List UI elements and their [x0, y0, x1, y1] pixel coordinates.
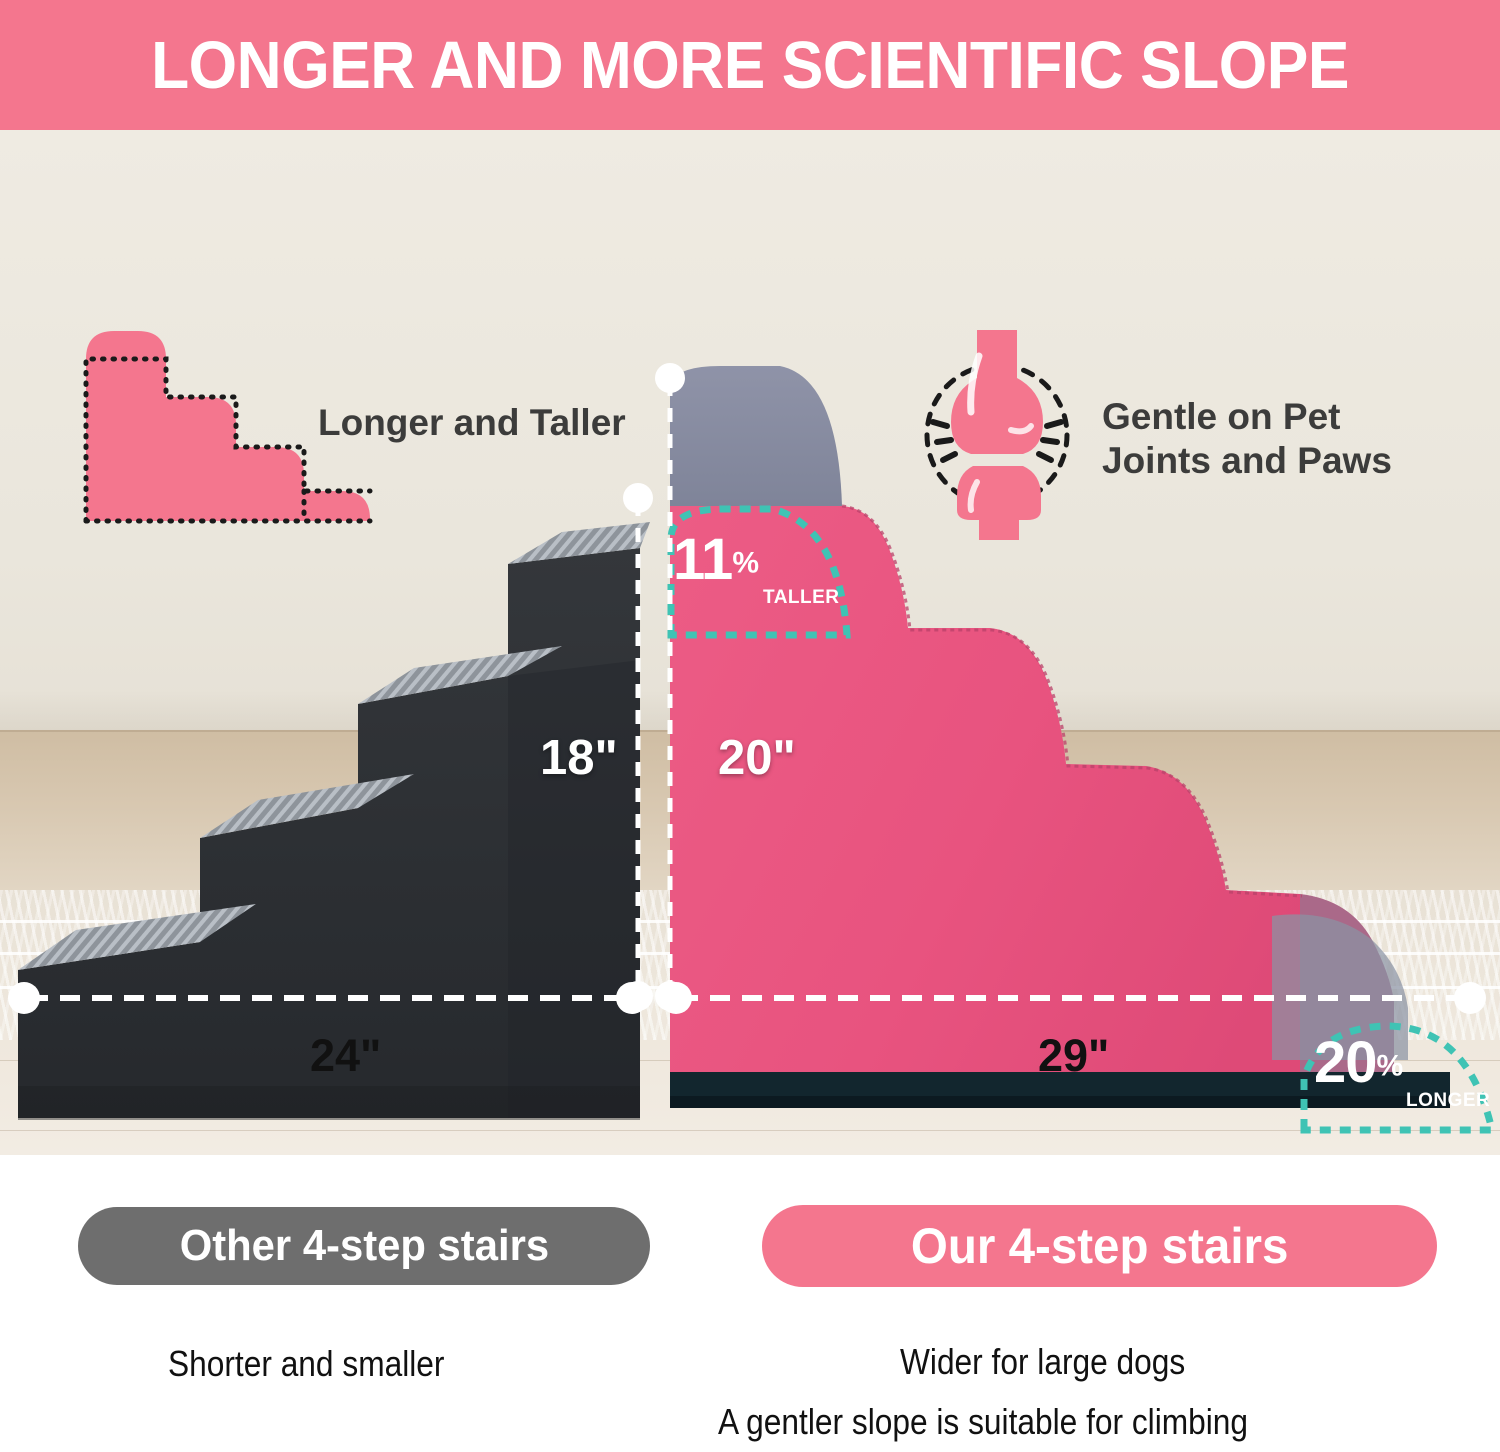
- header-banner: LONGER AND MORE SCIENTIFIC SLOPE: [0, 0, 1500, 130]
- pill-our-stairs: Our 4-step stairs: [762, 1205, 1437, 1287]
- feature-label-longer-taller: Longer and Taller: [318, 402, 626, 444]
- description-our-2: A gentler slope is suitable for climbing: [718, 1401, 1248, 1443]
- comparison-footer: Other 4-step stairs Our 4-step stairs Sh…: [0, 1155, 1500, 1452]
- banner-title: LONGER AND MORE SCIENTIFIC SLOPE: [151, 27, 1349, 104]
- badge-20-percent-longer: 20% LONGER: [1300, 1020, 1495, 1125]
- competitor-stairs-product: [10, 490, 650, 1125]
- pill-our-label: Our 4-step stairs: [911, 1217, 1289, 1275]
- product-comparison-scene: Longer and Taller Gentle on Pet Joints a…: [0, 130, 1500, 1155]
- our-stairs-product: [660, 360, 1490, 1125]
- pill-other-label: Other 4-step stairs: [179, 1221, 548, 1271]
- description-other-1: Shorter and smaller: [168, 1343, 444, 1385]
- badge-longer-sub: LONGER: [1406, 1090, 1490, 1112]
- badge-longer-value: 20%: [1314, 1034, 1403, 1092]
- badge-taller-sub: TALLER: [763, 587, 840, 609]
- pill-other-stairs: Other 4-step stairs: [78, 1207, 650, 1285]
- floor-plank-seam: [0, 1130, 1500, 1131]
- badge-11-percent-taller: 11% TALLER: [667, 505, 842, 630]
- description-our-1: Wider for large dogs: [900, 1341, 1185, 1383]
- badge-taller-value: 11%: [673, 531, 759, 589]
